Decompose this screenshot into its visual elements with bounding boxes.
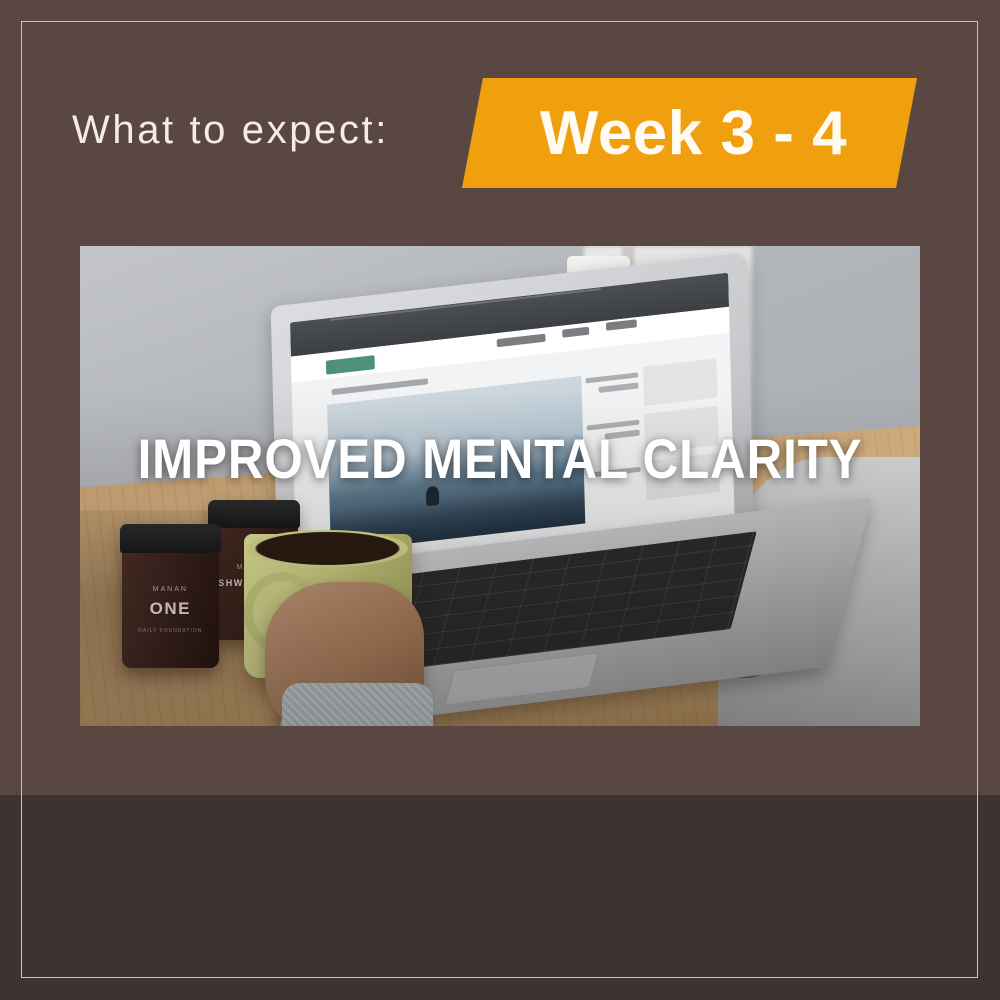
week-timeline: W1W2W3W4W5W6W7W8 [0, 795, 1000, 1000]
promo-card: What to expect: Week 3 - 4 [0, 0, 1000, 1000]
photo-overlay-title: IMPROVED MENTAL CLARITY [60, 426, 940, 491]
knit-sleeve [282, 683, 433, 726]
site-side-text-1 [586, 372, 639, 383]
site-side-thumb-1 [643, 358, 718, 406]
site-breadcrumb [332, 377, 428, 394]
card-header: What to expect: Week 3 - 4 [0, 0, 1000, 215]
site-side-text-2 [599, 382, 639, 392]
jar-brand-label: MANAN [122, 586, 219, 593]
mug-rim-coffee [247, 530, 408, 567]
week-banner-label: Week 3 - 4 [540, 98, 847, 169]
week-banner: Week 3 - 4 [462, 78, 917, 188]
jar-lid [208, 500, 300, 528]
jar-product-label: ONE [122, 599, 219, 619]
eyebrow-text: What to expect: [72, 108, 389, 153]
jar-lid [120, 524, 220, 553]
jar-subtitle-label: DAILY FOUNDATION [122, 628, 219, 634]
supplement-jar-one: MANAN ONE DAILY FOUNDATION [122, 524, 219, 668]
